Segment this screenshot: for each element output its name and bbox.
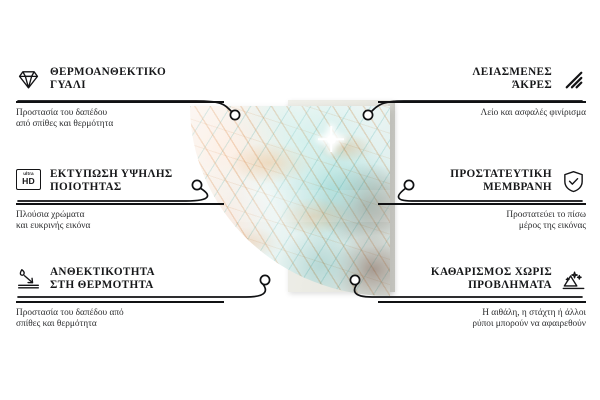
feature-title: ΕΚΤΥΠΩΣΗ ΥΨΗΛΗΣ ΠΟΙΟΤΗΤΑΣ [50,168,173,194]
shield-check-icon [561,169,586,194]
feature-heat-durability[interactable]: ΑΝΘΕΚΤΙΚΟΤΗΤΑ ΣΤΗ ΘΕΡΜΟΤΗΤΑ Προστασία το… [16,262,224,330]
callout-dot-3 [260,275,269,284]
diamond-icon [16,67,41,92]
feature-heat-resistant-glass[interactable]: ΘΕΡΜΟΑΝΘΕΚΤΙΚΟ ΓΥΑΛΙ Προστασία του δαπέδ… [16,62,224,130]
feature-description: Λείο και ασφαλές φινίρισμα [378,108,586,119]
callout-dot-4 [363,110,372,119]
easy-clean-icon [561,267,586,292]
callout-dot-6 [350,275,359,284]
feature-header: ultra HD ΕΚΤΥΠΩΣΗ ΥΨΗΛΗΣ ΠΟΙΟΤΗΤΑΣ [16,164,224,198]
divider [16,203,224,205]
feature-header: ΑΝΘΕΚΤΙΚΟΤΗΤΑ ΣΤΗ ΘΕΡΜΟΤΗΤΑ [16,262,224,296]
heat-resistance-icon [16,267,41,292]
polished-edges-icon [561,67,586,92]
divider [16,101,224,103]
feature-title: ΑΝΘΕΚΤΙΚΟΤΗΤΑ ΣΤΗ ΘΕΡΜΟΤΗΤΑ [50,266,155,292]
feature-title: ΚΑΘΑΡΙΣΜΟΣ ΧΩΡΙΣ ΠΡΟΒΛΗΜΑΤΑ [431,266,552,292]
feature-description: Η αιθάλη, η στάχτη ή άλλοι ρύποι μπορούν… [378,308,586,331]
feature-title: ΠΡΟΣΤΑΤΕΥΤΙΚΗ ΜΕΜΒΡΑΝΗ [450,168,552,194]
feature-high-quality-print[interactable]: ultra HD ΕΚΤΥΠΩΣΗ ΥΨΗΛΗΣ ΠΟΙΟΤΗΤΑΣ Πλούσ… [16,164,224,232]
feature-description: Προστατεύει το πίσω μέρος της εικόνας [378,210,586,233]
feature-header: ΛΕΙΑΣΜΕΝΕΣ ΆΚΡΕΣ [378,62,586,96]
feature-header: ΠΡΟΣΤΑΤΕΥΤΙΚΗ ΜΕΜΒΡΑΝΗ [378,164,586,198]
divider [378,101,586,103]
feature-title: ΘΕΡΜΟΑΝΘΕΚΤΙΚΟ ΓΥΑΛΙ [50,66,166,92]
callout-dot-1 [230,110,239,119]
feature-easy-cleaning[interactable]: ΚΑΘΑΡΙΣΜΟΣ ΧΩΡΙΣ ΠΡΟΒΛΗΜΑΤΑ Η αιθάλη, η … [378,262,586,330]
ultra-hd-icon: ultra HD [16,169,41,194]
divider [16,301,224,303]
infographic-canvas: ΘΕΡΜΟΑΝΘΕΚΤΙΚΟ ΓΥΑΛΙ Προστασία του δαπέδ… [0,0,600,400]
feature-protective-film[interactable]: ΠΡΟΣΤΑΤΕΥΤΙΚΗ ΜΕΜΒΡΑΝΗ Προστατεύει το πί… [378,164,586,232]
feature-description: Πλούσια χρώματα και ευκρινής εικόνα [16,210,224,233]
feature-description: Προστασία του δαπέδου από σπίθες και θερ… [16,108,224,131]
divider [378,301,586,303]
feature-polished-edges[interactable]: ΛΕΙΑΣΜΕΝΕΣ ΆΚΡΕΣ Λείο και ασφαλές φινίρι… [378,62,586,119]
divider [378,203,586,205]
feature-header: ΘΕΡΜΟΑΝΘΕΚΤΙΚΟ ΓΥΑΛΙ [16,62,224,96]
feature-header: ΚΑΘΑΡΙΣΜΟΣ ΧΩΡΙΣ ΠΡΟΒΛΗΜΑΤΑ [378,262,586,296]
feature-description: Προστασία του δαπέδου από σπίθες και θερ… [16,308,224,331]
feature-title: ΛΕΙΑΣΜΕΝΕΣ ΆΚΡΕΣ [472,66,552,92]
